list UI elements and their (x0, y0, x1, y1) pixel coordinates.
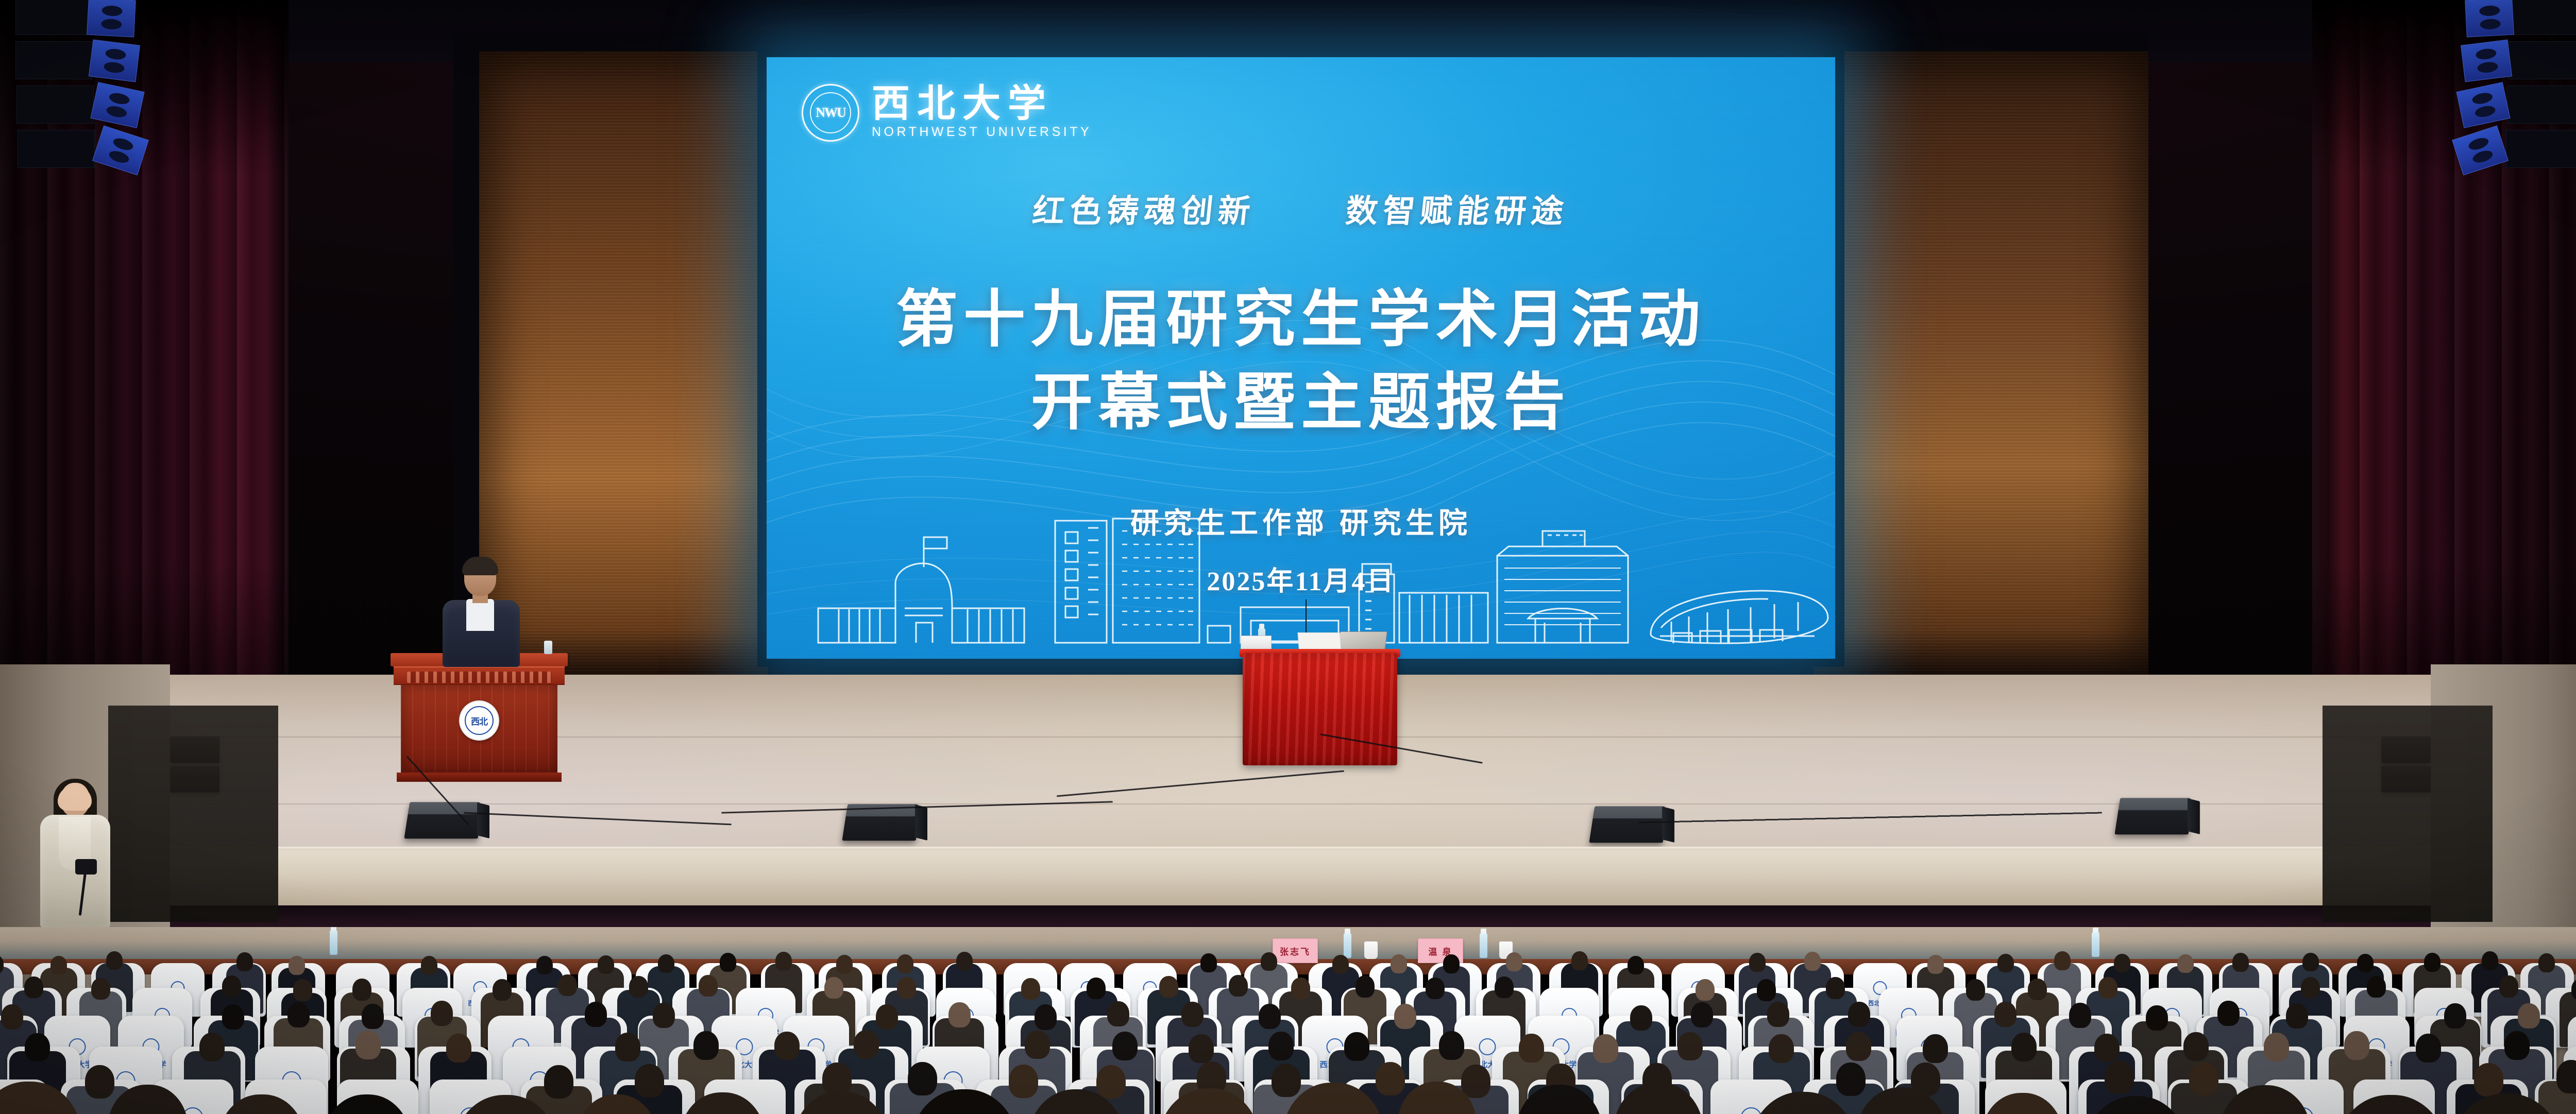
audience-member-head (2183, 1032, 2209, 1061)
audience-member-head (1696, 979, 1715, 1001)
ledge-water-bottle-3 (330, 930, 337, 955)
audience-member-head (2028, 979, 2047, 1000)
audience-member-head (1355, 975, 1375, 997)
audience-member-head (431, 1001, 453, 1026)
audience-member-head (2499, 975, 2518, 997)
audience-member-head (2416, 1034, 2441, 1062)
table-microphone (1306, 599, 1307, 635)
audience-member-head (2424, 953, 2441, 971)
audience-member-head (897, 977, 916, 999)
audience-member-head (1848, 1002, 1870, 1027)
audience-member-head (2011, 1033, 2037, 1061)
audience-member-head (1344, 1032, 1369, 1061)
event-title: 第十九届研究生学术月活动 开幕式暨主题报告 (767, 279, 1835, 444)
audience-member-head (948, 1002, 971, 1027)
audience-member-head (876, 1004, 898, 1030)
audience-member-head (1923, 1034, 1948, 1063)
audience-member-head (1229, 975, 1248, 997)
audience-member-head (1096, 1065, 1126, 1099)
audience-member-head (1749, 953, 1766, 971)
audience-member-head (1593, 1034, 1618, 1063)
audience-member-head (1394, 1004, 1416, 1029)
audience-member-head (1804, 952, 1821, 970)
audience-member-head (854, 1030, 879, 1059)
audience-member-head (106, 951, 123, 970)
audience-member-head (1767, 1002, 1789, 1027)
audience-member-head (1677, 1032, 1703, 1061)
event-title-line-2: 开幕式暨主题报告 (767, 362, 1835, 444)
audience-member-head (1332, 955, 1349, 973)
university-name-chinese: 西北大学 (872, 86, 1092, 122)
podium-emblem-text: 西北 (471, 714, 487, 727)
audience-member-head (908, 1062, 937, 1095)
floor-monitor-4 (2117, 797, 2190, 834)
audience-member-head (2286, 1003, 2308, 1029)
audience-member-head (1757, 979, 1776, 1001)
audience-member-head (1035, 1004, 1057, 1030)
audience-member-head (50, 956, 67, 974)
audience-member-head (2367, 976, 2386, 998)
audience-member-head (446, 1034, 471, 1062)
audience-member-head (2357, 954, 2374, 972)
ledge-water-bottle-2 (1480, 933, 1487, 958)
audience-member-head (585, 1002, 607, 1027)
audience-member-head (2474, 1063, 2503, 1096)
presenter-at-podium (435, 559, 528, 662)
audience-member-head (1769, 1034, 1794, 1063)
audience-member-head (1112, 1032, 1138, 1060)
audience-member-head (1159, 976, 1178, 998)
wood-acoustic-panel-right (1814, 52, 2148, 680)
audience-member-head (1826, 977, 1845, 999)
audience-member-head (236, 952, 253, 971)
auditorium-scene: NWU 西北大学 NORTHWEST UNIVERSITY 红色铸魂创新 数智赋… (0, 0, 2576, 1114)
audience-member-head (1021, 978, 1040, 1000)
podium-university-emblem-icon: 西北 (459, 700, 499, 741)
audience-member-head (2098, 977, 2117, 999)
audience-member-head (1495, 976, 1514, 998)
audience-member-head (1272, 1064, 1301, 1097)
audience-member-head (289, 956, 305, 974)
audience-member-head (493, 979, 512, 1001)
audience-member-head (2189, 1062, 2218, 1095)
tagline-right: 数智赋能研途 (1344, 185, 1571, 231)
audience-seating: 张志飞 温 泉 西北大学西北大学西北大学西北大学西北大学西北大学西北大学西北大学… (0, 927, 2576, 1114)
audience-member-head (1189, 1034, 1214, 1063)
audience-member-head (615, 1033, 640, 1061)
audience-member-head (1181, 1002, 1204, 1027)
audience-member-head (635, 1064, 664, 1098)
audience-member-head (421, 956, 437, 974)
audience-member-head (1268, 1032, 1294, 1060)
audience-member-head (1628, 956, 1644, 974)
audience-member-head (1087, 978, 1106, 999)
red-draped-table (1243, 653, 1397, 765)
audience-member-head (1261, 952, 1277, 971)
audience-member-head (1836, 1062, 1866, 1096)
audience-member-head (558, 974, 577, 996)
audience-member-head (598, 955, 614, 974)
audience-member-head (2504, 1031, 2530, 1060)
audience-member-head (1107, 1001, 1129, 1026)
audience-member-head (25, 1033, 50, 1062)
audience-member-head (1630, 1005, 1652, 1031)
audience-member-head (653, 1003, 675, 1028)
audience-member-head (824, 977, 843, 999)
audience-member-head (362, 1004, 384, 1029)
audience-member-head (1439, 1031, 1464, 1060)
audience-member-head (1391, 954, 1407, 973)
audience-member-head (1, 1004, 23, 1030)
audience-member-head (1927, 955, 1944, 973)
audience-member-head (2054, 951, 2071, 970)
audience-member-head (2105, 1060, 2134, 1094)
audience-member-head (544, 1065, 573, 1099)
floor-monitor-1 (407, 801, 479, 838)
podium-water-bottle (544, 641, 552, 654)
audience-member-head (1200, 953, 1217, 972)
event-title-line-1: 第十九届研究生学术月活动 (767, 279, 1835, 362)
podium-carving (407, 672, 551, 683)
audience-member-head (293, 979, 312, 1001)
audience-member-head (536, 956, 553, 974)
audience-member-head (1519, 1034, 1544, 1062)
audience-member-head (2217, 1001, 2240, 1026)
seal-core-text: NWU (816, 106, 845, 119)
audience-member-head (1571, 951, 1588, 970)
audience-member-head (1009, 1065, 1038, 1098)
university-name-english: NORTHWEST UNIVERSITY (872, 125, 1092, 140)
audience-member-head (287, 1002, 310, 1027)
camera-icon (75, 859, 97, 875)
audience-member-head (2264, 1033, 2289, 1061)
audience-member-head (1025, 1031, 1050, 1059)
podium: 西北 (397, 653, 562, 782)
audience-member-head (2177, 954, 2194, 973)
audience-member-head (2232, 953, 2249, 971)
audience-member-head (1997, 954, 2014, 972)
audience-member-head (1966, 979, 1985, 1001)
floor-monitor-3 (1592, 805, 1664, 843)
audience-member-head (199, 1033, 225, 1061)
audience-member-head (2518, 1003, 2540, 1029)
audience-member-head (2301, 977, 2320, 999)
tagline-left: 红色铸魂创新 (1030, 185, 1258, 231)
audience-member-head (1994, 1002, 2016, 1027)
university-seal-icon: NWU (802, 84, 859, 142)
name-card-1: 张志飞 (1273, 938, 1318, 963)
tagline-row: 红色铸魂创新 数智赋能研途 (767, 185, 1835, 231)
audience-member-head (775, 952, 792, 970)
audience-member-head (355, 1031, 381, 1059)
audience-member-head (1506, 952, 1522, 971)
audience-member-head (897, 954, 913, 973)
audience-member-head (2538, 953, 2555, 972)
audience-member-head (2094, 1034, 2120, 1062)
ledge-paper-cup-1 (1364, 941, 1378, 959)
audience-member-head (91, 978, 110, 1000)
audience-member-head (658, 954, 674, 973)
audience-member-head (222, 1004, 244, 1030)
audience-member-head (222, 975, 241, 997)
northwest-university-logo: NWU 西北大学 NORTHWEST UNIVERSITY (802, 84, 1092, 142)
audience-member-head (1461, 1065, 1490, 1098)
photographer (31, 783, 118, 927)
audience-member-head (699, 975, 718, 997)
audience-member-head (85, 1065, 114, 1099)
audience-member-head (2146, 1005, 2168, 1031)
audience-member-head (352, 979, 371, 1000)
audience-member-head (836, 955, 853, 973)
audience-member-head (2069, 1003, 2091, 1028)
seat-emblem-icon (1479, 1038, 1496, 1055)
audience-member-head (2114, 954, 2130, 972)
ledge-water-bottle-1 (1344, 933, 1351, 958)
audience-member-head (629, 976, 648, 998)
audience-member-head (2444, 1003, 2466, 1029)
audience-member-head (2556, 1060, 2576, 1093)
audience-member-head (720, 953, 736, 971)
audience-member-head (1691, 1002, 1713, 1027)
audience-member-head (1376, 1062, 1405, 1095)
audience-member-head (1443, 954, 1460, 973)
audience-member-head (1259, 1004, 1281, 1029)
line-array-speaker-left (15, 0, 144, 203)
audience-member-head (1426, 978, 1445, 999)
audience-member-head (2482, 951, 2498, 970)
audience-member-head (774, 1032, 800, 1060)
audience-member-head (693, 1031, 719, 1060)
led-screen-frame: NWU 西北大学 NORTHWEST UNIVERSITY 红色铸魂创新 数智赋… (757, 49, 1844, 667)
audience-member-head (956, 952, 973, 970)
audience-member-head (1846, 1032, 1871, 1061)
audience-member-head (2344, 1031, 2369, 1060)
audience-member-head (24, 976, 43, 998)
line-array-speaker-right (2456, 0, 2576, 203)
audience-member-head (1291, 978, 1310, 999)
stage-apron (0, 849, 2576, 911)
led-screen: NWU 西北大学 NORTHWEST UNIVERSITY 红色铸魂创新 数智赋… (767, 57, 1835, 659)
ledge-water-bottle-4 (2092, 932, 2099, 957)
seat-emblem-icon (1740, 1107, 1761, 1114)
audience-member-head (2302, 953, 2319, 971)
